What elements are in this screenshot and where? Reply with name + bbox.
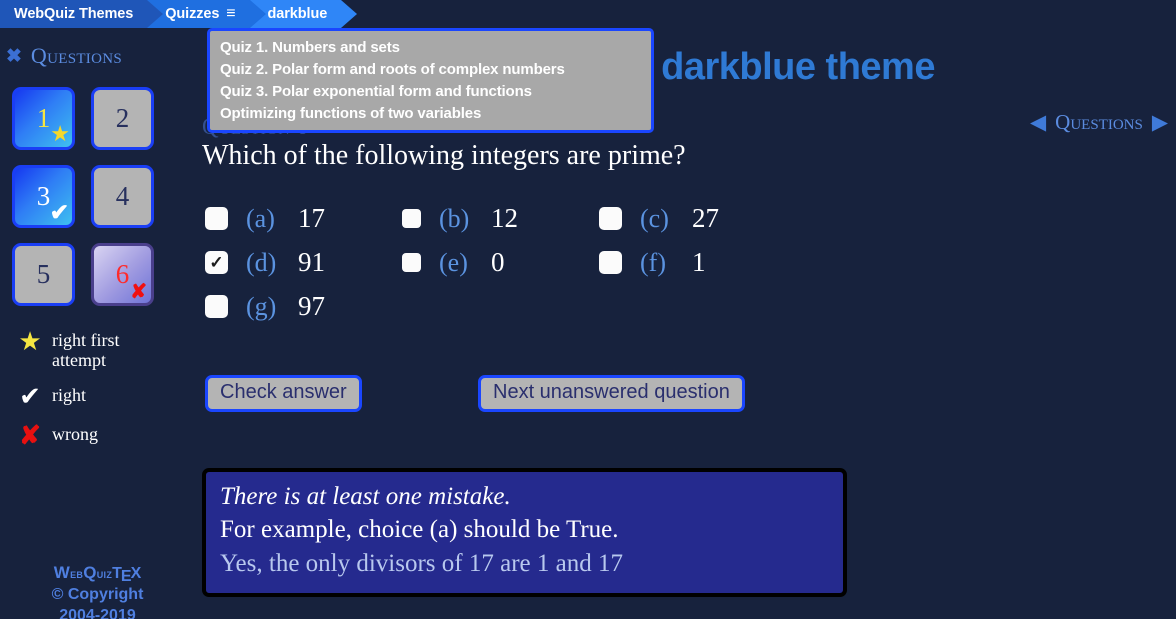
choice-letter-d: (d) <box>246 248 298 278</box>
dropdown-item-optimizing[interactable]: Optimizing functions of two variables <box>210 103 651 125</box>
breadcrumb-label-quizzes: Quizzes <box>165 6 219 22</box>
choice-letter-e: (e) <box>439 248 491 278</box>
question-button-4[interactable]: 4 <box>91 165 154 228</box>
choice-letter-f: (f) <box>640 248 692 278</box>
quiz-page: WebQuiz Themes Quizzes ≡ darkblue Quiz 1… <box>0 0 1176 619</box>
choice-b[interactable]: (b) 12 <box>402 203 599 234</box>
choice-letter-a: (a) <box>246 204 298 234</box>
question-button-6-number: 6 <box>116 259 130 290</box>
breadcrumb-item-themes[interactable]: WebQuiz Themes <box>0 0 147 28</box>
checkbox-g[interactable] <box>205 295 228 318</box>
question-button-5-number: 5 <box>37 259 51 290</box>
checkbox-d[interactable]: ✓ <box>205 251 228 274</box>
question-nav: ◀ Questions ▶ <box>1030 110 1168 135</box>
question-button-3-number: 3 <box>37 181 51 212</box>
feedback-line-1: There is at least one mistake. <box>220 481 829 513</box>
quizzes-dropdown-menu[interactable]: Quiz 1. Numbers and sets Quiz 2. Polar f… <box>207 28 654 133</box>
breadcrumb-item-darkblue[interactable]: darkblue <box>250 0 342 28</box>
choice-f[interactable]: (f) 1 <box>599 247 796 278</box>
choice-value-d: 91 <box>298 247 325 278</box>
question-button-2-number: 2 <box>116 103 130 134</box>
question-button-1-number: 1 <box>37 103 51 134</box>
checkbox-b[interactable] <box>402 209 421 228</box>
choice-a[interactable]: (a) 17 <box>205 203 402 234</box>
choice-list: (a) 17 (b) 12 (c) 27 ✓ (d) 91 <box>205 203 945 335</box>
checkbox-c[interactable] <box>599 207 622 230</box>
close-x-icon[interactable]: ✖ <box>6 47 22 66</box>
dropdown-item-quiz3[interactable]: Quiz 3. Polar exponential form and funct… <box>210 81 651 103</box>
legend-label-right: right <box>52 383 86 405</box>
question-button-6[interactable]: 6 ✘ <box>91 243 154 306</box>
question-text: Which of the following integers are prim… <box>202 140 686 172</box>
star-icon: ★ <box>50 123 70 145</box>
check-icon: ✔ <box>8 383 52 409</box>
question-button-4-number: 4 <box>116 181 130 212</box>
footer-brand-tex: TEX <box>112 565 141 582</box>
feedback-line-2: For example, choice (a) should be True. <box>220 513 829 547</box>
legend-label-wrong: wrong <box>52 422 98 444</box>
legend-item-wrong: ✘ wrong <box>8 422 183 448</box>
breadcrumb-label-themes: WebQuiz Themes <box>14 6 133 22</box>
legend-item-right: ✔ right <box>8 383 183 409</box>
choice-value-a: 17 <box>298 203 325 234</box>
footer-years: 2004-2019 <box>0 605 195 619</box>
check-icon: ✔ <box>50 201 69 224</box>
feedback-box: There is at least one mistake. For examp… <box>202 468 847 597</box>
choice-row: ✓ (d) 91 (e) 0 (f) 1 <box>205 247 945 278</box>
sidebar-header: ✖ Questions <box>0 28 195 69</box>
footer-copyright: © Copyright <box>0 584 195 605</box>
question-button-2[interactable]: 2 <box>91 87 154 150</box>
checkbox-a[interactable] <box>205 207 228 230</box>
next-unanswered-question-button[interactable]: Next unanswered question <box>478 375 745 412</box>
prev-question-arrow-icon[interactable]: ◀ <box>1030 112 1046 133</box>
choice-value-g: 97 <box>298 291 325 322</box>
cross-icon: ✘ <box>8 422 52 448</box>
choice-row: (a) 17 (b) 12 (c) 27 <box>205 203 945 234</box>
check-answer-button[interactable]: Check answer <box>205 375 362 412</box>
choice-letter-c: (c) <box>640 204 692 234</box>
star-icon: ★ <box>8 328 52 354</box>
hamburger-icon[interactable]: ≡ <box>226 6 235 22</box>
next-question-arrow-icon[interactable]: ▶ <box>1152 112 1168 133</box>
question-nav-label[interactable]: Questions <box>1055 110 1143 135</box>
legend-label-right-first: right first attempt <box>52 328 147 370</box>
choice-d[interactable]: ✓ (d) 91 <box>205 247 402 278</box>
choice-value-f: 1 <box>692 247 706 278</box>
question-button-1[interactable]: 1 ★ <box>12 87 75 150</box>
choice-c[interactable]: (c) 27 <box>599 203 796 234</box>
checkbox-e[interactable] <box>402 253 421 272</box>
legend-item-right-first: ★ right first attempt <box>8 328 183 370</box>
choice-value-b: 12 <box>491 203 518 234</box>
cross-icon: ✘ <box>130 282 147 302</box>
footer-brand-webquiz: WebQuiz <box>54 563 112 582</box>
dropdown-item-quiz2[interactable]: Quiz 2. Polar form and roots of complex … <box>210 59 651 81</box>
question-button-grid: 1 ★ 2 3 ✔ 4 5 6 ✘ <box>12 87 172 306</box>
footer-brand: WebQuizTEX <box>0 562 195 584</box>
legend: ★ right first attempt ✔ right ✘ wrong <box>8 328 183 448</box>
choice-letter-g: (g) <box>246 292 298 322</box>
sidebar: ✖ Questions 1 ★ 2 3 ✔ 4 5 6 ✘ <box>0 28 195 619</box>
question-button-3[interactable]: 3 ✔ <box>12 165 75 228</box>
checkbox-f[interactable] <box>599 251 622 274</box>
choice-letter-b: (b) <box>439 204 491 234</box>
choice-value-e: 0 <box>491 247 505 278</box>
choice-row: (g) 97 <box>205 291 945 322</box>
breadcrumb: WebQuiz Themes Quizzes ≡ darkblue <box>0 0 341 28</box>
choice-g[interactable]: (g) 97 <box>205 291 402 322</box>
dropdown-item-quiz1[interactable]: Quiz 1. Numbers and sets <box>210 37 651 59</box>
choice-e[interactable]: (e) 0 <box>402 247 599 278</box>
choice-value-c: 27 <box>692 203 719 234</box>
breadcrumb-label-darkblue: darkblue <box>268 6 328 22</box>
sidebar-header-label: Questions <box>31 43 122 69</box>
footer: WebQuizTEX © Copyright 2004-2019 <box>0 562 195 619</box>
feedback-line-3: Yes, the only divisors of 17 are 1 and 1… <box>220 547 829 581</box>
question-button-5[interactable]: 5 <box>12 243 75 306</box>
